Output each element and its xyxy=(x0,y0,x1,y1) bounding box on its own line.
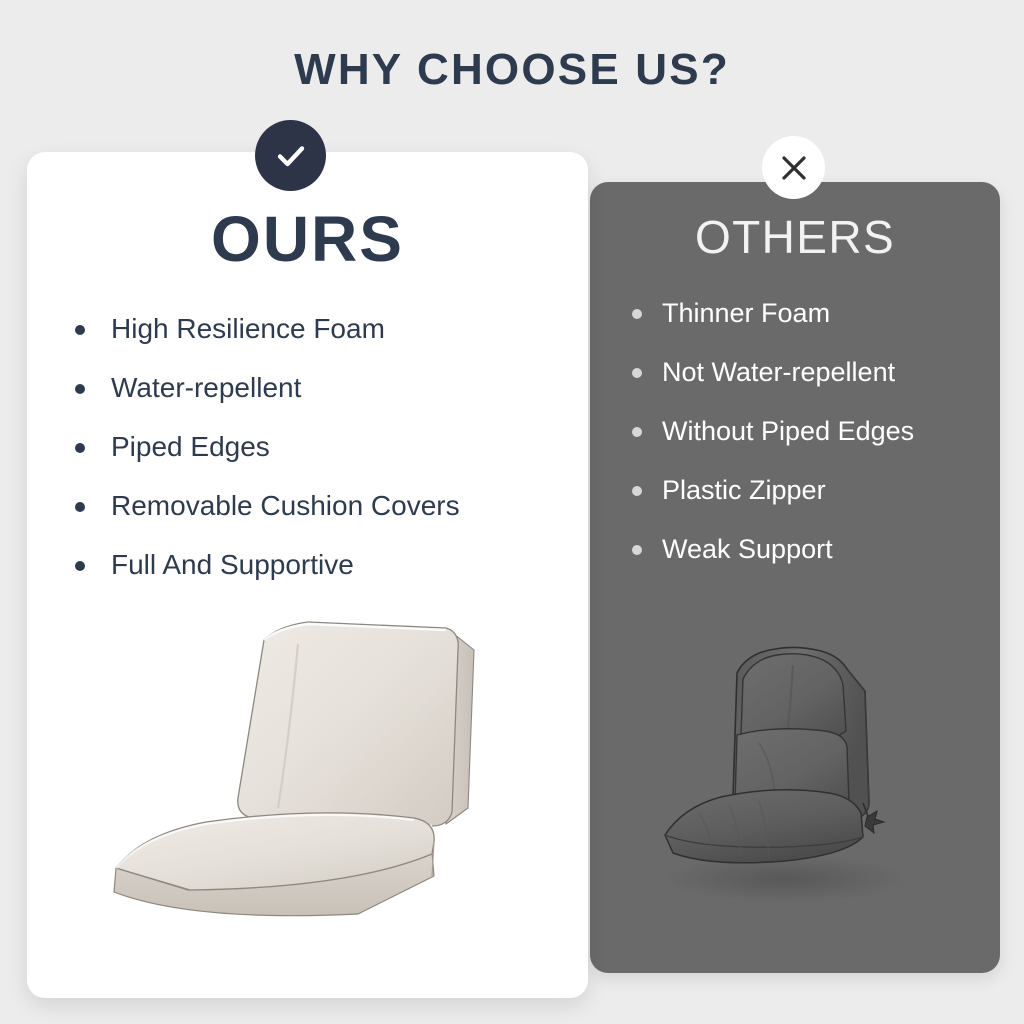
list-item-label: Full And Supportive xyxy=(111,549,354,581)
list-item: Plastic Zipper xyxy=(632,461,1000,520)
check-badge: ✓ xyxy=(255,120,326,191)
ours-feature-list: High Resilience Foam Water-repellent Pip… xyxy=(75,300,575,595)
bullet-dot-icon xyxy=(75,384,85,394)
list-item-label: Plastic Zipper xyxy=(662,475,826,506)
list-item: Piped Edges xyxy=(75,418,575,477)
list-item-label: Water-repellent xyxy=(111,372,301,404)
list-item-label: Thinner Foam xyxy=(662,298,830,329)
bullet-dot-icon xyxy=(75,325,85,335)
ours-product-image xyxy=(102,592,522,952)
bullet-dot-icon xyxy=(632,427,642,437)
list-item: Water-repellent xyxy=(75,359,575,418)
page-title: WHY CHOOSE US? xyxy=(0,48,1024,92)
comparison-infographic: WHY CHOOSE US? OTHERS Thinner Foam Not W… xyxy=(0,0,1024,1024)
bullet-dot-icon xyxy=(75,443,85,453)
list-item-label: Piped Edges xyxy=(111,431,270,463)
bullet-dot-icon xyxy=(632,309,642,319)
list-item: Weak Support xyxy=(632,520,1000,579)
list-item-label: Without Piped Edges xyxy=(662,416,914,447)
list-item: Full And Supportive xyxy=(75,536,575,595)
list-item: High Resilience Foam xyxy=(75,300,575,359)
list-item: Not Water-repellent xyxy=(632,343,1000,402)
check-icon xyxy=(272,137,310,175)
list-item: Thinner Foam xyxy=(632,284,1000,343)
list-item-label: Not Water-repellent xyxy=(662,357,895,388)
bullet-dot-icon xyxy=(75,502,85,512)
list-item: Removable Cushion Covers xyxy=(75,477,575,536)
close-icon xyxy=(779,153,809,183)
ours-heading: OURS xyxy=(27,207,588,271)
bullet-dot-icon xyxy=(632,368,642,378)
bullet-dot-icon xyxy=(632,486,642,496)
others-feature-list: Thinner Foam Not Water-repellent Without… xyxy=(632,284,1000,579)
bullet-dot-icon xyxy=(75,561,85,571)
ours-panel: OURS High Resilience Foam Water-repellen… xyxy=(27,152,588,998)
list-item-label: Weak Support xyxy=(662,534,833,565)
list-item-label: High Resilience Foam xyxy=(111,313,385,345)
others-heading: OTHERS xyxy=(590,214,1000,260)
others-product-image xyxy=(625,607,945,917)
list-item-label: Removable Cushion Covers xyxy=(111,490,460,522)
bullet-dot-icon xyxy=(632,545,642,555)
list-item: Without Piped Edges xyxy=(632,402,1000,461)
others-panel: OTHERS Thinner Foam Not Water-repellent … xyxy=(590,182,1000,973)
cross-badge: ✕ xyxy=(762,136,825,199)
